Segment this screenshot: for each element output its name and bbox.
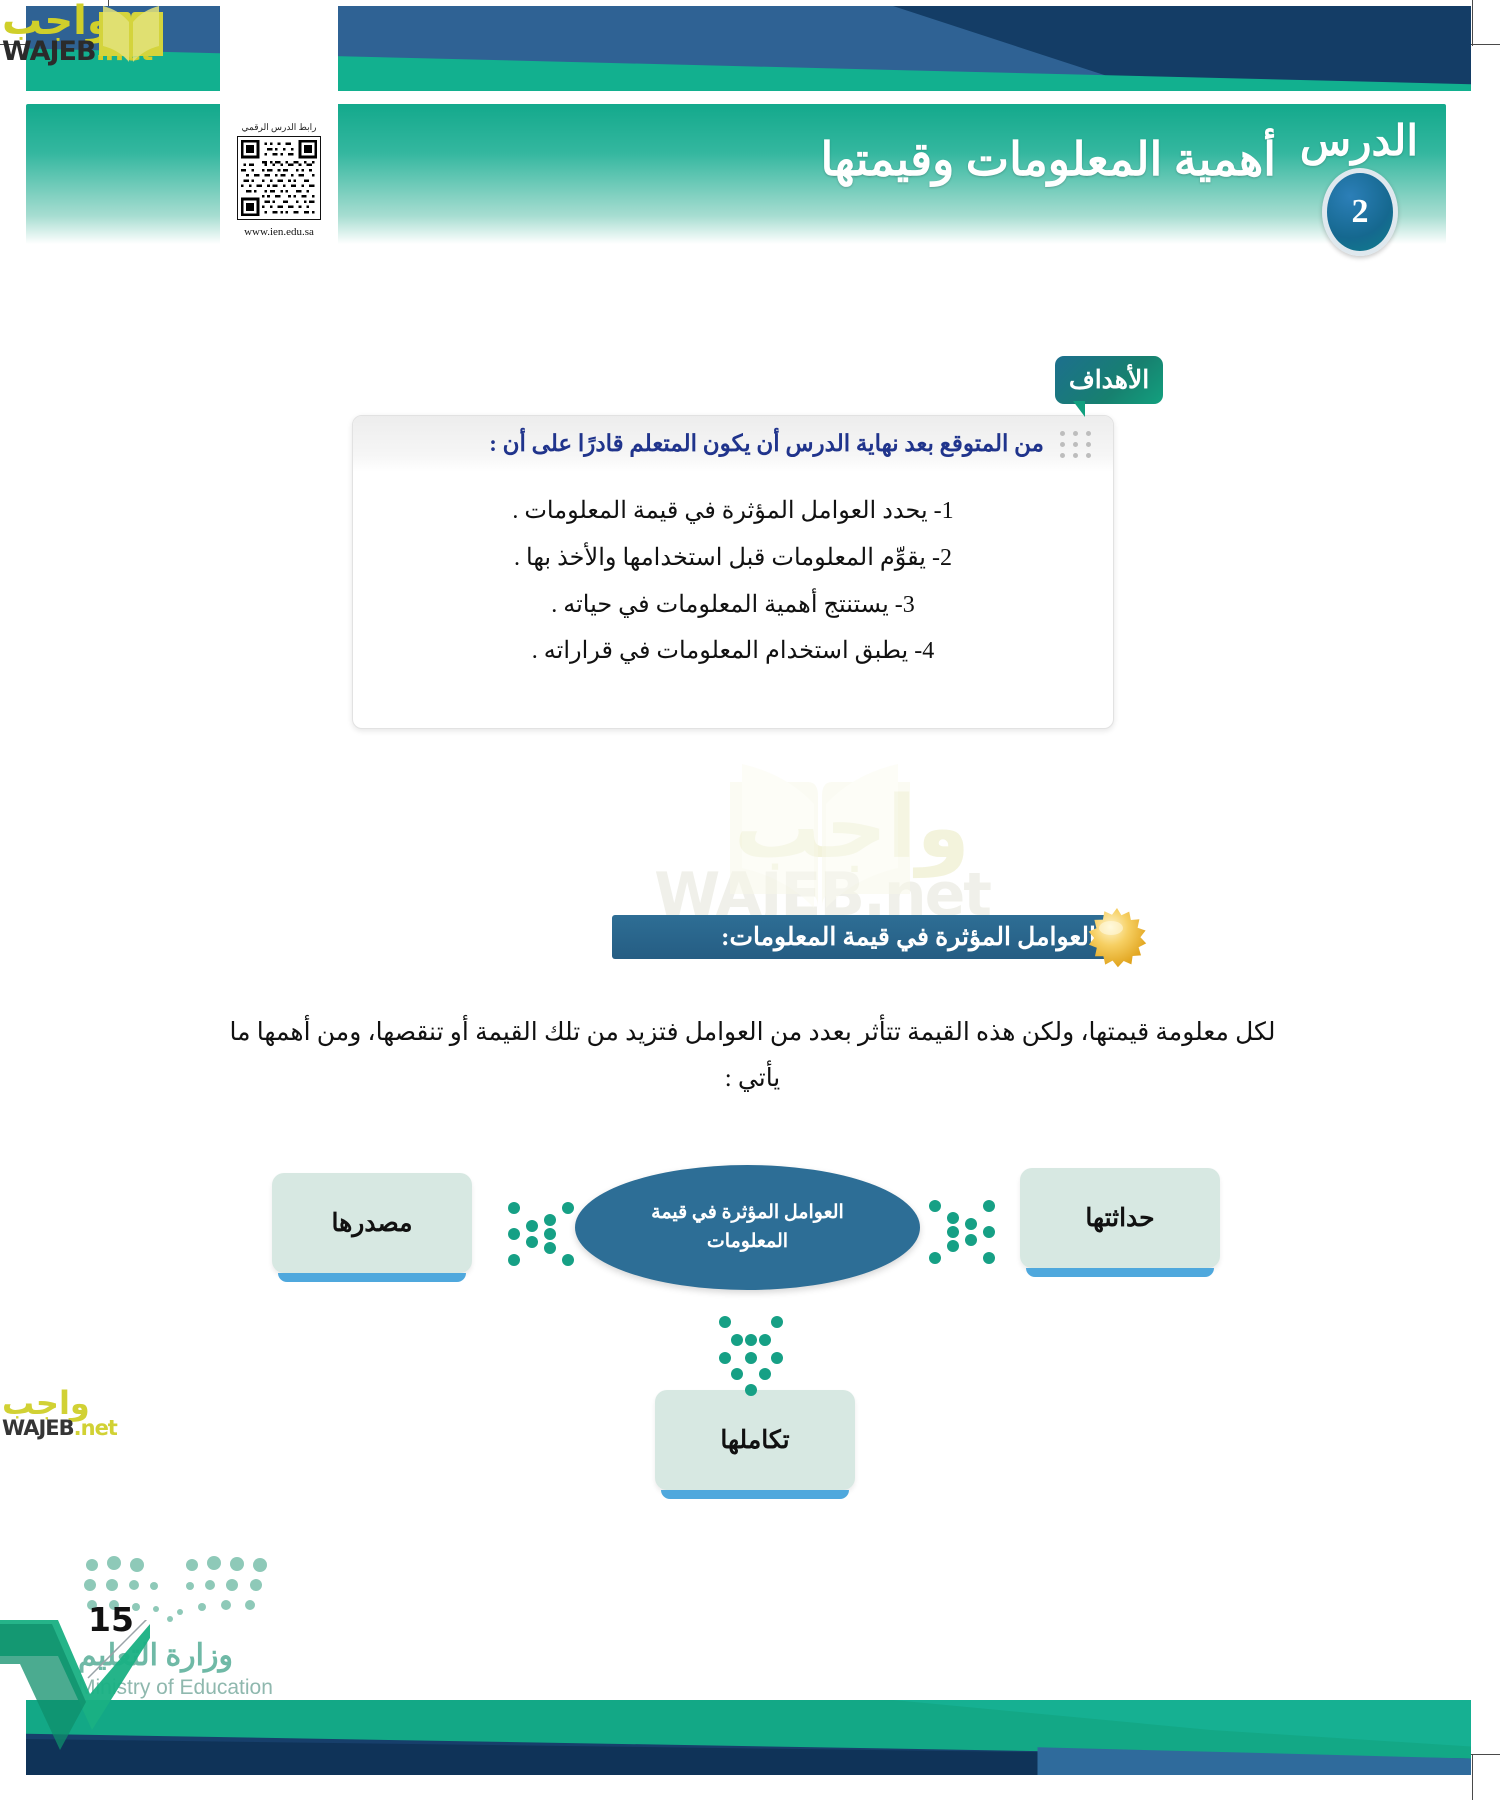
factors-diagram: العوامل المؤثرة في قيمة المعلومات مصدرها…	[0, 1140, 1500, 1500]
textbook-page: واجب WAJEB.net الدرس 2 أهمية المعلومات و…	[0, 0, 1500, 1800]
wajeb-logo-secondary-net: WAJEB.net	[2, 1416, 117, 1440]
wajeb-logo: واجب WAJEB.net	[0, 2, 220, 72]
list-item: 3- يستنتج أهمية المعلومات في حياته .	[383, 582, 1083, 629]
diagram-center-node: العوامل المؤثرة في قيمة المعلومات	[575, 1165, 920, 1290]
watermark-word: واجب	[734, 778, 970, 878]
dotted-arrow-down-icon	[715, 1312, 787, 1398]
list-item: 1- يحدد العوامل المؤثرة في قيمة المعلوما…	[383, 488, 1083, 535]
list-item: 2- يقوِّم المعلومات قبل استخدامها والأخذ…	[383, 535, 1083, 582]
objectives-intro: من المتوقع بعد نهاية الدرس أن يكون المتع…	[353, 431, 1044, 457]
qr-code-icon[interactable]	[237, 136, 321, 220]
list-item: 4- يطبق استخدام المعلومات في قراراته .	[383, 628, 1083, 675]
crop-mark-top-right	[1472, 0, 1473, 46]
objectives-tab: الأهداف	[1055, 356, 1163, 404]
objectives-tab-label: الأهداف	[1069, 365, 1149, 395]
diagram-node-integration-label: تكاملها	[720, 1425, 789, 1455]
dotted-arrow-left-icon	[492, 1198, 578, 1270]
diagram-node-source-label: مصدرها	[331, 1208, 412, 1238]
moe-swoosh-icon	[0, 1620, 150, 1780]
diagram-node-integration: تكاملها	[655, 1390, 855, 1490]
sunburst-star-icon	[1086, 907, 1148, 969]
wajeb-logo-secondary: واجب WAJEB.net	[0, 1390, 180, 1452]
lesson-word-label: الدرس	[1300, 116, 1418, 166]
diagram-node-recency-label: حداثتها	[1085, 1203, 1154, 1233]
objectives-list: 1- يحدد العوامل المؤثرة في قيمة المعلوما…	[353, 472, 1113, 685]
objectives-header: من المتوقع بعد نهاية الدرس أن يكون المتع…	[353, 416, 1113, 472]
qr-url-label: www.ien.edu.sa	[244, 226, 314, 238]
dot-grid-icon	[1058, 431, 1091, 458]
watermark-book-icon	[720, 762, 920, 922]
lesson-number-badge: 2	[1322, 168, 1398, 256]
page-title: أهمية المعلومات وقيمتها	[821, 132, 1277, 186]
section-paragraph: لكل معلومة قيمتها، ولكن هذه القيمة تتأثر…	[220, 1010, 1285, 1103]
section-heading-text: العوامل المؤثرة في قيمة المعلومات:	[721, 922, 1096, 952]
section-heading-bar: العوامل المؤثرة في قيمة المعلومات:	[612, 915, 1112, 959]
bottom-decorative-banner	[26, 1700, 1471, 1775]
open-book-icon	[95, 6, 167, 68]
page-number: 15	[88, 1600, 134, 1639]
qr-label: رابط الدرس الرقمي	[242, 122, 317, 133]
diagram-node-recency: حداثتها	[1020, 1168, 1220, 1268]
digital-lesson-qr-card[interactable]: رابط الدرس الرقمي	[220, 0, 338, 283]
diagram-node-source: مصدرها	[272, 1173, 472, 1273]
objectives-card: من المتوقع بعد نهاية الدرس أن يكون المتع…	[352, 415, 1114, 729]
dotted-arrow-right-icon	[925, 1196, 1011, 1268]
crop-mark-bottom-right	[1472, 1754, 1473, 1800]
